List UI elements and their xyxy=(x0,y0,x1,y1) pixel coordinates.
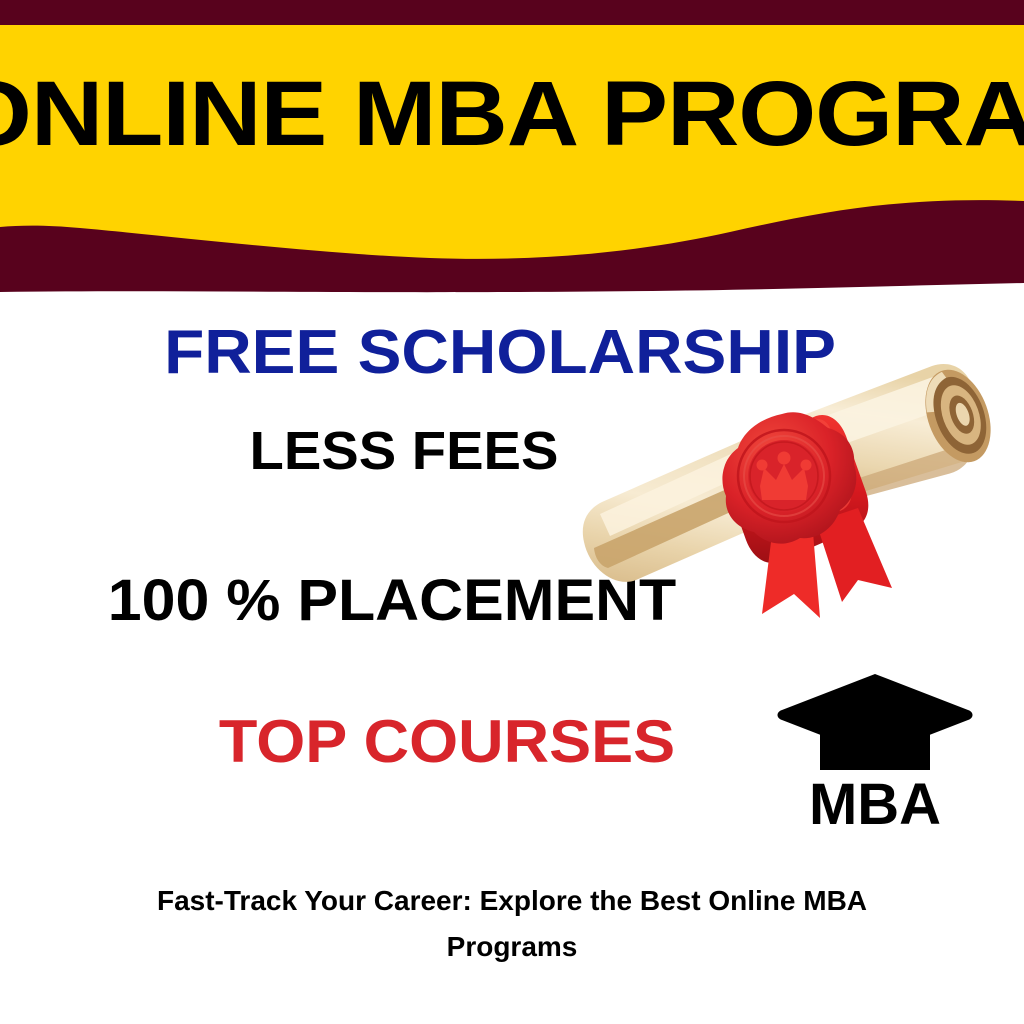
graduation-cap-icon xyxy=(778,674,973,756)
diploma-scroll-icon xyxy=(566,356,1012,636)
page-title: ONLINE MBA PROGRAM xyxy=(0,66,1024,162)
logo-label: MBA xyxy=(809,772,941,833)
footer-caption: Fast-Track Your Career: Explore the Best… xyxy=(112,878,912,970)
graduation-cap-logo: MBA xyxy=(772,668,978,833)
header-banner: ONLINE MBA PROGRAM xyxy=(0,0,1024,300)
poster-canvas: ONLINE MBA PROGRAM FREE SCHOLARSHIP LESS… xyxy=(0,0,1024,1024)
